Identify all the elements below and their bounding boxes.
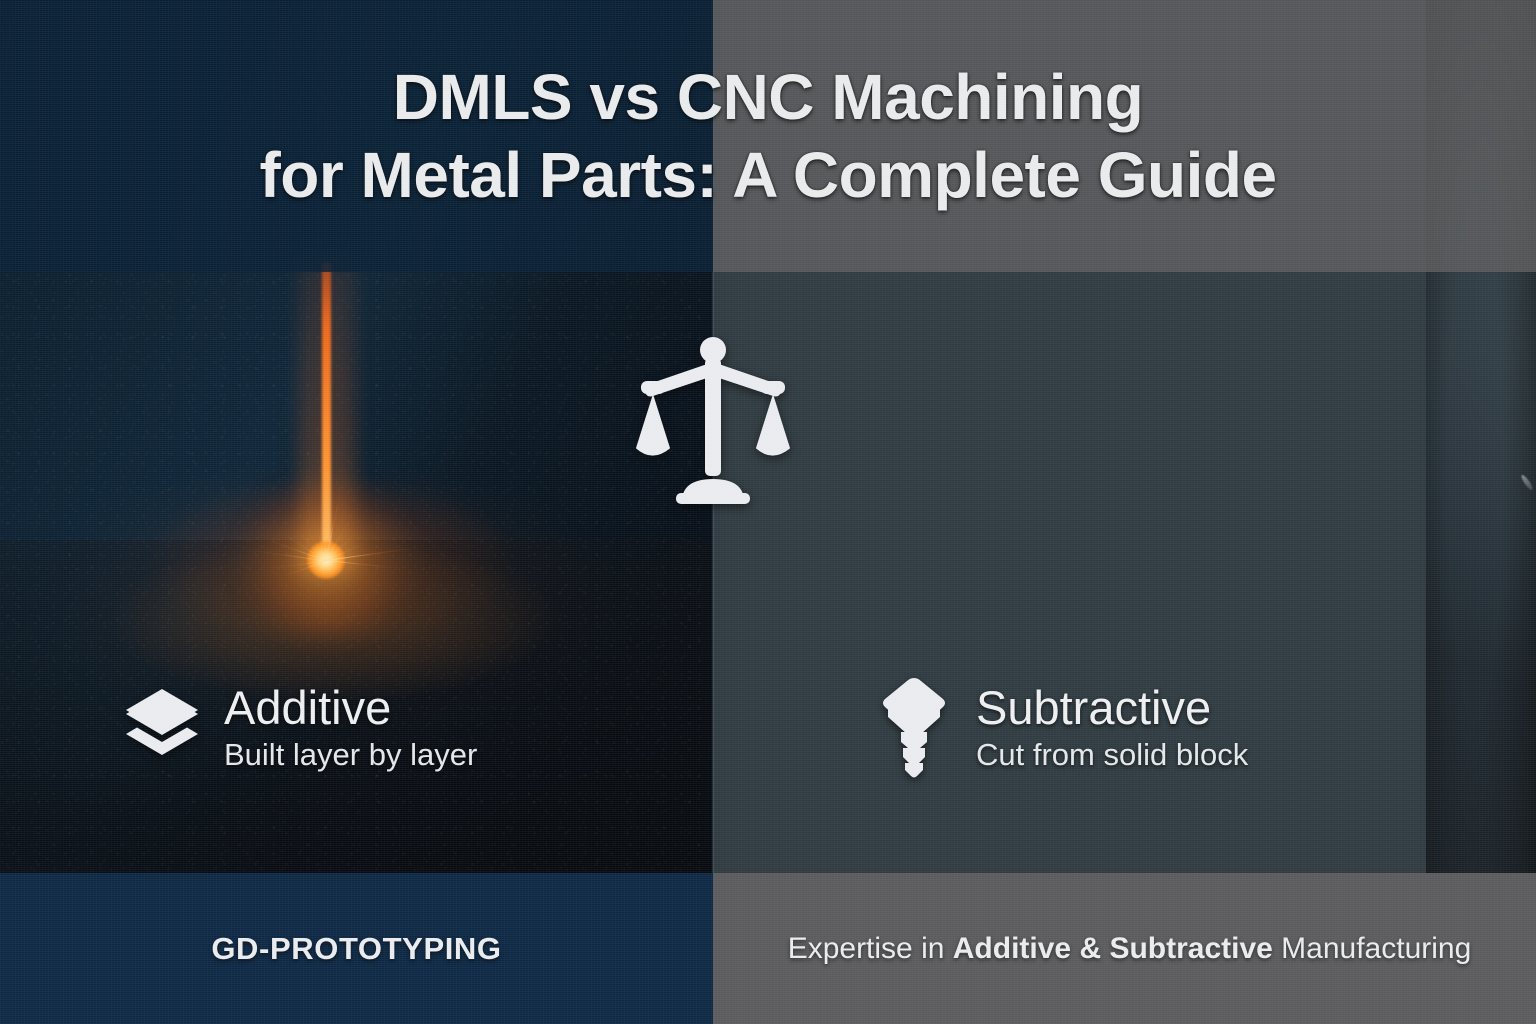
spark-burst xyxy=(326,560,327,561)
stacked-layers-icon xyxy=(124,676,200,780)
header-left-overlay xyxy=(0,0,713,272)
additive-badge: Additive Built layer by layer xyxy=(124,676,477,780)
tagline-emphasis: Additive & Subtractive xyxy=(953,932,1273,965)
header-band xyxy=(0,0,1536,272)
subtractive-title: Subtractive xyxy=(976,683,1248,732)
tagline-prefix: Expertise in xyxy=(788,932,953,965)
balance-scale-icon xyxy=(632,336,794,504)
additive-title: Additive xyxy=(224,683,477,732)
additive-badge-text: Additive Built layer by layer xyxy=(224,683,477,774)
subtractive-subtitle: Cut from solid block xyxy=(976,736,1248,773)
tagline-suffix: Manufacturing xyxy=(1273,932,1471,965)
screw-icon xyxy=(876,676,952,780)
footer-left: GD-PROTOTYPING xyxy=(0,873,713,1024)
subtractive-badge-text: Subtractive Cut from solid block xyxy=(976,683,1248,774)
header-right-overlay xyxy=(713,0,1536,272)
footer-right: Expertise in Additive & Subtractive Manu… xyxy=(713,873,1536,1024)
hero-banner: DMLS vs CNC Machining for Metal Parts: A… xyxy=(0,0,1536,1024)
brand-name: GD-PROTOTYPING xyxy=(211,931,501,967)
footer-bar: GD-PROTOTYPING Expertise in Additive & S… xyxy=(0,873,1536,1024)
subtractive-badge: Subtractive Cut from solid block xyxy=(876,676,1248,780)
additive-subtitle: Built layer by layer xyxy=(224,736,477,773)
tagline: Expertise in Additive & Subtractive Manu… xyxy=(788,932,1472,966)
